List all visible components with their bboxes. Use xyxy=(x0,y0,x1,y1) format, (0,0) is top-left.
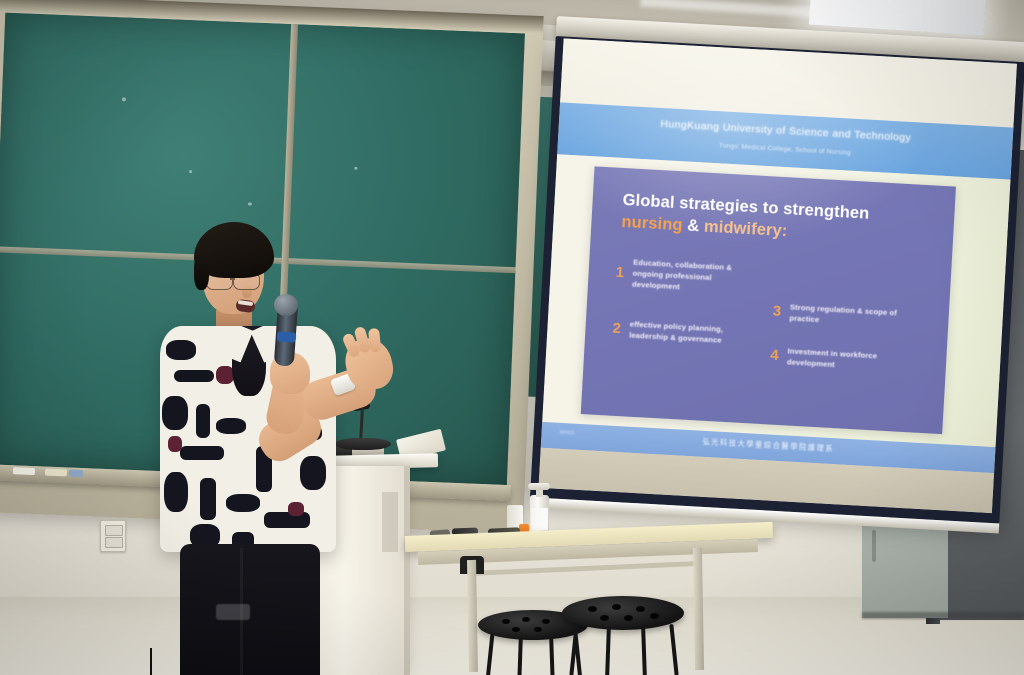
slide-content: HungKuang University of Science and Tech… xyxy=(539,38,1017,513)
shirt-pattern xyxy=(200,478,216,520)
stool-leg xyxy=(641,627,647,675)
eyeglasses-bridge xyxy=(230,278,235,280)
slide-title: Global strategies to strengthen nursing … xyxy=(621,190,935,251)
slide-item-number-4: 4 xyxy=(770,346,779,363)
shirt-pattern xyxy=(164,472,188,512)
shirt-pattern xyxy=(180,446,224,460)
chalk-piece[interactable] xyxy=(13,467,35,475)
stool-leg xyxy=(669,624,678,675)
shirt-pattern xyxy=(300,456,326,490)
stool-hole xyxy=(512,627,520,632)
stool-hole xyxy=(588,606,597,612)
shirt-pattern xyxy=(166,340,196,360)
shirt-pattern xyxy=(174,370,214,382)
ceiling-light-panel xyxy=(809,0,986,35)
shirt-pattern-accent xyxy=(288,502,304,516)
stool-hole xyxy=(502,619,510,624)
stool-hole xyxy=(534,627,542,632)
outlet-socket-icon xyxy=(105,537,123,548)
presenter-hair-side xyxy=(194,254,209,290)
sanitizer-label xyxy=(531,508,548,530)
slide-content-card: Global strategies to strengthen nursing … xyxy=(581,166,956,434)
pants-logo xyxy=(216,604,250,620)
stool-hole xyxy=(542,619,550,624)
shirt-pattern xyxy=(216,418,246,434)
chalk-eraser[interactable] xyxy=(69,469,83,477)
stool-leg xyxy=(605,627,611,675)
slide-title-midwifery: midwifery xyxy=(703,217,782,239)
shirt-pattern xyxy=(162,396,188,430)
presenter xyxy=(150,218,390,675)
slide-item-number-3: 3 xyxy=(772,303,781,320)
shirt-pattern-accent xyxy=(168,436,182,452)
stool-right[interactable] xyxy=(562,596,692,675)
folding-table-leg xyxy=(467,560,478,672)
shirt-pattern xyxy=(226,494,260,512)
slide-title-colon: : xyxy=(781,222,788,240)
chalk-speck xyxy=(189,170,192,173)
wall-power-outlet[interactable] xyxy=(100,520,126,552)
stool-leg xyxy=(549,637,555,675)
stool-hole xyxy=(650,613,659,619)
presenter-pants xyxy=(180,544,320,675)
shirt-pattern xyxy=(196,404,210,438)
slide-item-text-2: effective policy planning, leadership & … xyxy=(629,319,752,348)
projected-slide: HungKuang University of Science and Tech… xyxy=(539,38,1017,513)
chalk-speck xyxy=(354,167,357,170)
slide-item-text-4: Investment in workforce development xyxy=(787,345,912,374)
slide-item-text-3: Strong regulation & scope of practice xyxy=(789,302,908,331)
stool-leg xyxy=(569,624,578,675)
stool-hole xyxy=(600,615,609,621)
cabinet-handle-icon[interactable] xyxy=(872,530,876,562)
stool-hole xyxy=(612,604,621,610)
chalk-speck xyxy=(248,202,252,205)
cabinet-shadow xyxy=(862,612,1024,619)
outlet-socket-icon xyxy=(105,525,123,536)
microphone-cable xyxy=(150,648,186,675)
slide-item-number-2: 2 xyxy=(612,320,621,337)
sanitizer-pump-head[interactable] xyxy=(528,483,550,490)
stool-hole xyxy=(636,606,645,612)
stool-leg xyxy=(517,637,523,675)
microphone-band xyxy=(277,331,297,342)
shirt-pattern xyxy=(264,512,310,528)
classroom-photo-scene: HungKuang University of Science and Tech… xyxy=(0,0,1024,675)
slide-body: Global strategies to strengthen nursing … xyxy=(542,154,1010,447)
slide-item-text-1: Education, collaboration & ongoing profe… xyxy=(632,257,752,297)
slide-title-nursing: nursing xyxy=(621,213,683,234)
chalk-speck xyxy=(122,97,126,101)
finger xyxy=(368,328,381,353)
lectern-edge xyxy=(404,466,410,675)
stool-hole xyxy=(522,617,530,622)
stool-hole xyxy=(624,615,633,621)
slide-item-number-1: 1 xyxy=(615,264,624,281)
stool-seat xyxy=(562,596,684,630)
slide-title-connector: & xyxy=(687,216,700,235)
projection-screen-assembly: HungKuang University of Science and Tech… xyxy=(529,32,1024,537)
chalk-piece[interactable] xyxy=(45,469,67,477)
stool-leg xyxy=(486,634,495,675)
